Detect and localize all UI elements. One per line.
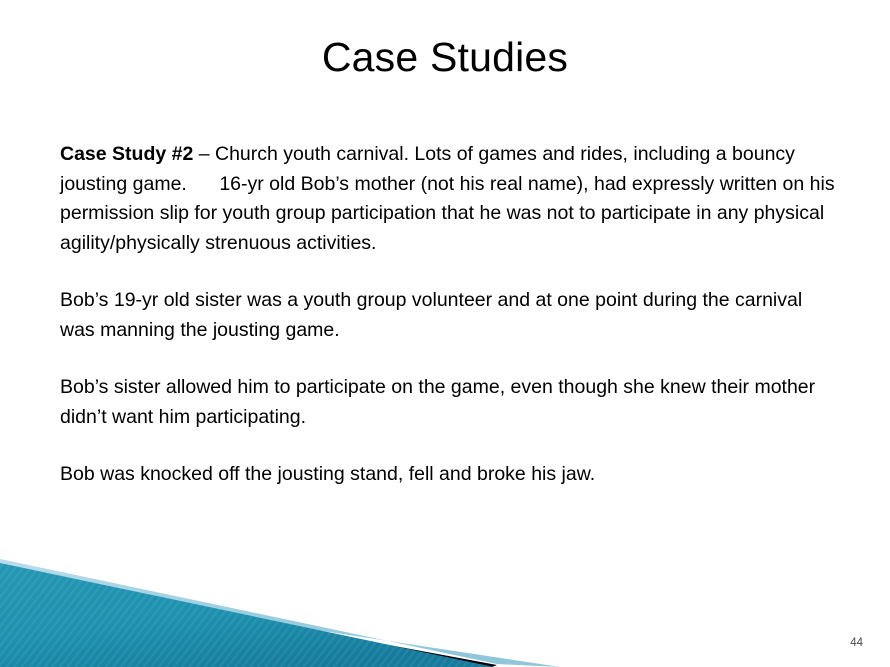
paragraph-sister-allowed: Bob’s sister allowed him to participate … xyxy=(60,373,835,432)
paragraph-sister-volunteer: Bob’s 19-yr old sister was a youth group… xyxy=(60,286,835,345)
corner-decoration-graphic xyxy=(0,537,560,667)
decoration-teal-texture xyxy=(0,563,494,667)
decoration-teal-shape xyxy=(0,563,494,667)
decoration-svg xyxy=(0,537,560,667)
paragraph-case-study: Case Study #2 – Church youth carnival. L… xyxy=(60,140,835,258)
paragraph-injury: Bob was knocked off the jousting stand, … xyxy=(60,460,835,490)
decoration-black-wedge xyxy=(0,573,497,667)
decoration-light-band xyxy=(0,559,560,667)
slide-number: 44 xyxy=(850,637,863,649)
page-title: Case Studies xyxy=(0,34,890,81)
slide-canvas: Case Studies Case Study #2 – Church yout… xyxy=(0,0,890,667)
case-study-label: Case Study #2 xyxy=(60,143,193,165)
slide-body: Case Study #2 – Church youth carnival. L… xyxy=(60,140,835,490)
